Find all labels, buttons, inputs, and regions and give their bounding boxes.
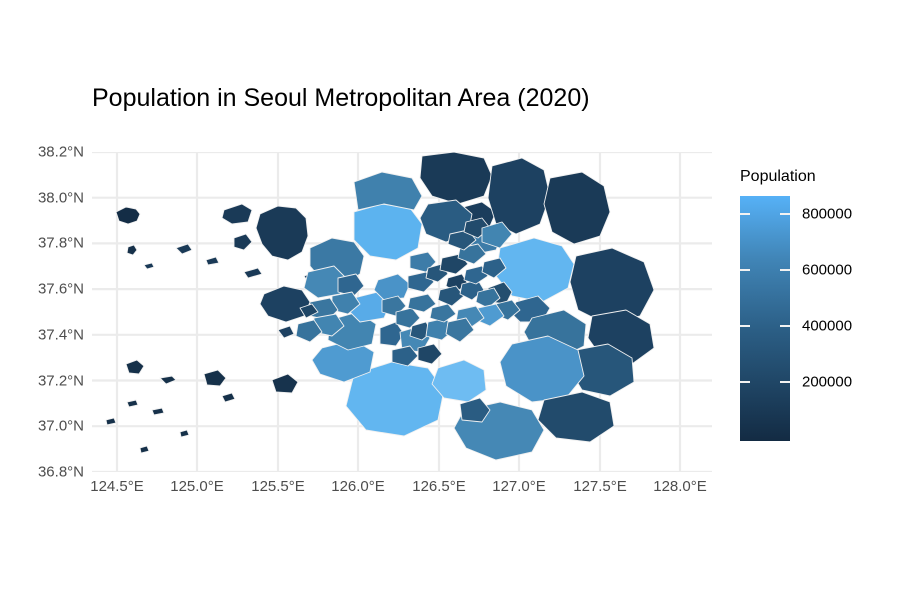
legend-tick-mark	[740, 213, 750, 215]
legend-title: Population	[740, 168, 860, 186]
y-tick-label: 37.0°N	[38, 418, 84, 435]
region-paju	[354, 172, 422, 210]
legend-tick-mark	[780, 325, 790, 327]
legend-value-label: 400000	[802, 318, 852, 335]
x-tick-label: 127.5°E	[573, 478, 627, 495]
y-tick-label: 37.4°N	[38, 326, 84, 343]
legend: Population	[740, 168, 860, 446]
region-gyodongdo	[222, 204, 252, 224]
x-tick-label: 125.5°E	[251, 478, 305, 495]
legend-tick-mark	[780, 213, 790, 215]
region-muuido	[278, 326, 294, 338]
y-tick-label: 36.8°N	[38, 464, 84, 481]
y-tick-label: 37.6°N	[38, 281, 84, 298]
region-socheongdo	[144, 263, 154, 269]
map-panel	[92, 152, 712, 472]
region-ongjin-island-c	[127, 400, 138, 407]
chart-title: Population in Seoul Metropolitan Area (2…	[92, 84, 590, 113]
region-incheon-ganghwa	[256, 206, 308, 260]
region-yeoncheon	[420, 152, 492, 204]
region-small-isle-b	[206, 257, 219, 265]
legend-value-label: 200000	[802, 374, 852, 391]
region-baengnyeongdo	[116, 207, 140, 224]
map-svg	[92, 152, 712, 472]
x-tick-label: 127.0°E	[492, 478, 546, 495]
region-deokjeokdo	[204, 370, 226, 386]
region-incheon-jung-gu	[260, 286, 310, 322]
region-goyang	[354, 204, 422, 260]
region-small-isle-c	[244, 268, 262, 278]
legend-tick-mark	[740, 269, 750, 271]
choropleth-map-figure: Population in Seoul Metropolitan Area (2…	[0, 0, 900, 600]
region-daecheongdo	[127, 245, 137, 255]
y-tick-label: 37.2°N	[38, 372, 84, 389]
legend-tick-mark	[740, 381, 750, 383]
region-ongjin-island-f	[180, 430, 189, 437]
legend-tick-mark	[780, 381, 790, 383]
region-ongjin-island-g	[140, 446, 149, 453]
region-pocheon	[488, 158, 550, 234]
x-tick-label: 126.0°E	[331, 478, 385, 495]
x-axis: 124.5°E 125.0°E 125.5°E 126.0°E 126.5°E …	[92, 478, 712, 504]
y-tick-label: 38.2°N	[38, 144, 84, 161]
y-tick-label: 38.0°N	[38, 189, 84, 206]
region-seoul-dongjak	[430, 304, 456, 322]
region-yeongheungdo	[272, 374, 298, 393]
region-ongjin-island-b	[160, 376, 176, 384]
region-ongjin-island-a	[126, 360, 144, 374]
x-tick-label: 124.5°E	[90, 478, 144, 495]
x-tick-label: 125.0°E	[170, 478, 224, 495]
x-tick-label: 128.0°E	[653, 478, 707, 495]
y-axis: 38.2°N 38.0°N 37.8°N 37.6°N 37.4°N 37.2°…	[0, 152, 84, 472]
legend-tick-mark	[780, 269, 790, 271]
region-ongjin-island-d	[152, 408, 164, 415]
x-tick-label: 126.5°E	[412, 478, 466, 495]
legend-value-label: 800000	[802, 206, 852, 223]
legend-tick-mark	[740, 325, 750, 327]
region-small-isle-a	[176, 244, 192, 254]
legend-gradient-bar	[740, 196, 790, 441]
region-seongmodo	[234, 234, 252, 250]
region-ongjin-island-e	[106, 418, 116, 425]
legend-value-label: 600000	[802, 262, 852, 279]
region-jawoldo	[222, 393, 235, 402]
y-tick-label: 37.8°N	[38, 235, 84, 252]
region-anseong	[538, 392, 614, 442]
